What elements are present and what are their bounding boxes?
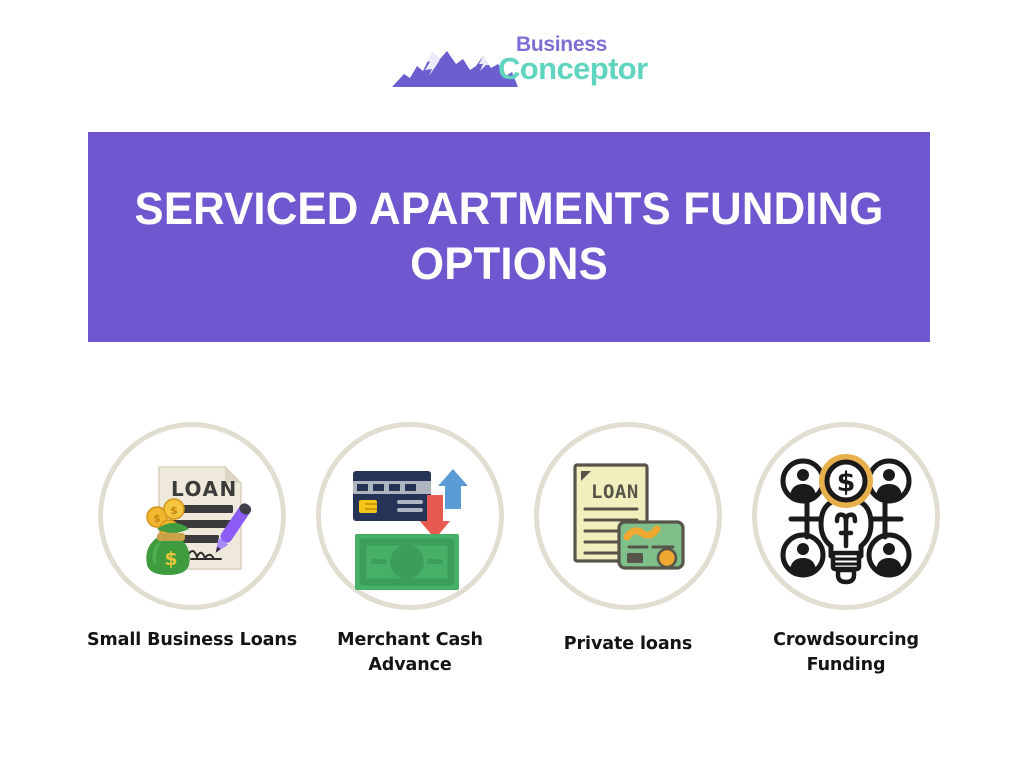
funding-option-merchant-cash-advance[interactable]: Merchant Cash Advance	[295, 420, 525, 679]
funding-option-small-business-loans[interactable]: LOAN $	[77, 420, 307, 653]
icon-circle: $	[752, 422, 940, 610]
lightbulb-dollar-network-icon: $	[771, 441, 921, 591]
svg-text:$: $	[170, 504, 178, 517]
page-title: SERVICED APARTMENTS FUNDING OPTIONS	[101, 182, 918, 292]
svg-text:$: $	[164, 548, 177, 570]
brand-logo: Business Conceptor	[390, 33, 640, 95]
loan-document-money-bag-icon: LOAN $	[117, 441, 267, 591]
title-banner: SERVICED APARTMENTS FUNDING OPTIONS	[88, 132, 930, 342]
svg-text:$: $	[837, 467, 856, 498]
funding-option-label: Small Business Loans	[77, 628, 307, 653]
funding-option-crowdsourcing-funding[interactable]: $ Crowdsourcing Funding	[731, 420, 961, 679]
brand-name-conceptor: Conceptor	[498, 53, 648, 84]
funding-option-private-loans[interactable]: LOAN	[513, 420, 743, 657]
loan-document-card-icon: LOAN	[553, 441, 703, 591]
svg-text:LOAN: LOAN	[591, 481, 639, 503]
svg-text:LOAN: LOAN	[171, 477, 238, 501]
icon-circle: LOAN	[534, 422, 722, 610]
funding-option-label: Private loans	[513, 632, 743, 657]
funding-option-label: Merchant Cash Advance	[295, 628, 525, 679]
funding-option-label: Crowdsourcing Funding	[731, 628, 961, 679]
funding-options-row: LOAN $	[0, 420, 1024, 710]
icon-circle	[316, 422, 504, 610]
icon-circle: LOAN $	[98, 422, 286, 610]
brand-wordmark: Business Conceptor	[498, 33, 648, 95]
credit-card-cash-exchange-icon	[335, 441, 485, 591]
svg-text:$: $	[153, 512, 161, 525]
